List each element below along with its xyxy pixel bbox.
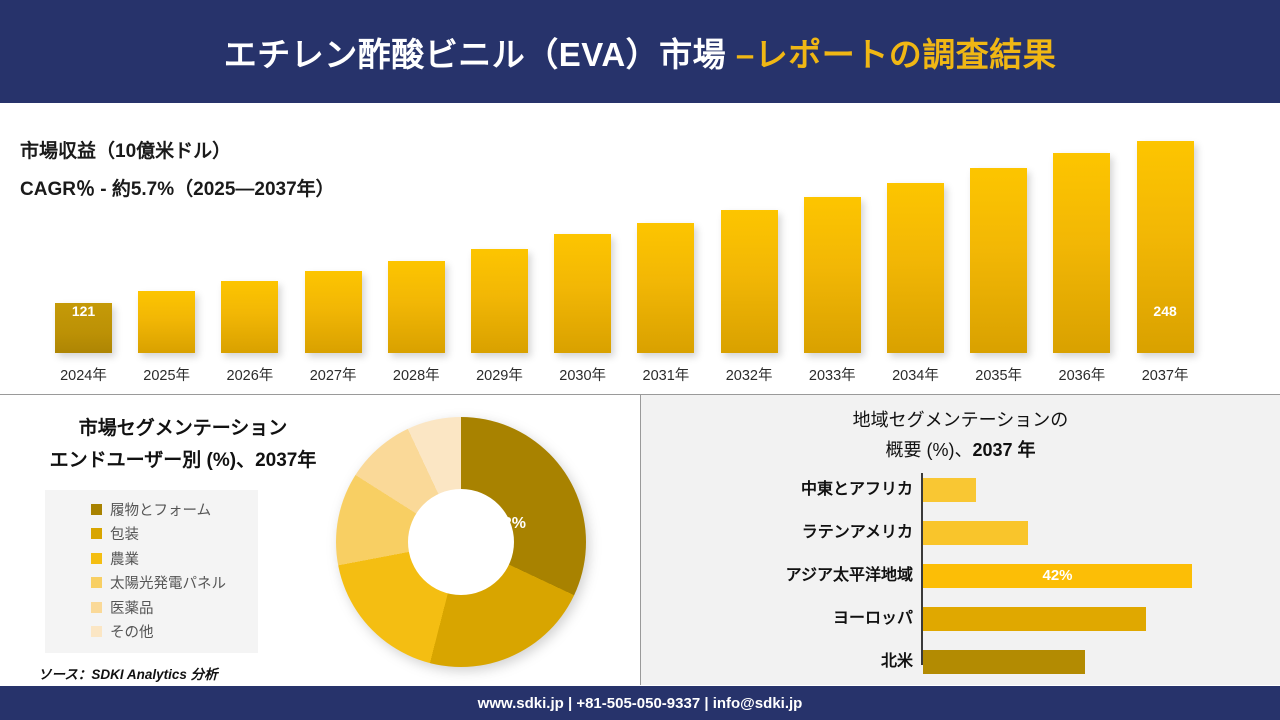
legend-swatch-icon	[91, 602, 102, 613]
segmentation-title-line1: 市場セグメンテーション	[18, 413, 348, 445]
donut-value-label: 32%	[494, 515, 526, 533]
region-label: アジア太平洋地域	[713, 564, 913, 588]
bar-column: 2027年	[305, 271, 362, 353]
footer-bar: www.sdki.jp | +81-505-050-9337 | info@sd…	[0, 686, 1280, 720]
region-row: 北米	[641, 650, 1280, 674]
region-bar	[923, 521, 1028, 545]
bar-category-label: 2030年	[548, 364, 617, 385]
bar-category-label: 2035年	[964, 364, 1033, 385]
bar-category-label: 2024年	[49, 364, 118, 385]
legend-swatch-icon	[91, 504, 102, 515]
segmentation-title: 市場セグメンテーション エンドユーザー別 (%)、2037年	[18, 413, 348, 477]
region-bar	[923, 650, 1085, 674]
footer-contact: www.sdki.jp | +81-505-050-9337 | info@sd…	[478, 695, 803, 712]
revenue-bar	[138, 291, 195, 353]
bar-column: 2034年	[887, 183, 944, 353]
bar-category-label: 2028年	[382, 364, 451, 385]
revenue-bar	[221, 281, 278, 353]
bar-column: 2032年	[721, 210, 778, 353]
header-bar: エチレン酢酸ビニル（EVA）市場 –レポートの調査結果	[0, 0, 1280, 103]
bar-column: 2035年	[970, 168, 1027, 353]
region-title-line1: 地域セグメンテーションの	[641, 405, 1280, 435]
legend-swatch-icon	[91, 553, 102, 564]
page-title: エチレン酢酸ビニル（EVA）市場 –レポートの調査結果	[224, 28, 1056, 76]
bar-column: 2029年	[471, 249, 528, 353]
bar-category-label: 2025年	[132, 364, 201, 385]
region-bar: 42%	[923, 564, 1192, 588]
legend-label: 包装	[110, 523, 139, 544]
bar-category-label: 2034年	[881, 364, 950, 385]
donut-legend: 履物とフォーム包装農業太陽光発電パネル医薬品その他	[45, 490, 258, 653]
legend-swatch-icon	[91, 626, 102, 637]
legend-label: 太陽光発電パネル	[110, 572, 226, 593]
bar-column: 2028年	[388, 261, 445, 353]
region-row: アジア太平洋地域42%	[641, 564, 1280, 588]
bar-category-label: 2037年	[1131, 364, 1200, 385]
region-title-line2: 概要 (%)、2037 年	[641, 435, 1280, 465]
legend-swatch-icon	[91, 528, 102, 539]
segmentation-title-line2: エンドユーザー別 (%)、2037年	[18, 445, 348, 477]
bar-category-label: 2036年	[1047, 364, 1116, 385]
page-title-main: エチレン酢酸ビニル（EVA）市場	[224, 36, 736, 73]
donut-hole	[408, 489, 514, 595]
legend-label: その他	[110, 621, 154, 642]
region-bar	[923, 607, 1146, 631]
legend-item: 太陽光発電パネル	[53, 571, 250, 596]
revenue-bar	[721, 210, 778, 353]
revenue-bar	[970, 168, 1027, 353]
page-title-accent: –レポートの調査結果	[736, 36, 1056, 73]
bar-value-label: 248	[1137, 303, 1194, 319]
bar-column: 2025年	[138, 291, 195, 353]
region-row: 中東とアフリカ	[641, 478, 1280, 502]
region-panel: 地域セグメンテーションの 概要 (%)、2037 年 中東とアフリカラテンアメリ…	[641, 395, 1280, 685]
legend-label: 医薬品	[110, 597, 154, 618]
bar-category-label: 2032年	[715, 364, 784, 385]
legend-item: 農業	[53, 546, 250, 571]
legend-item: 医薬品	[53, 595, 250, 620]
region-title-line2-a: 概要 (%)、	[885, 440, 972, 460]
revenue-bar	[804, 197, 861, 353]
region-label: 北米	[713, 650, 913, 674]
revenue-bar	[887, 183, 944, 353]
region-title: 地域セグメンテーションの 概要 (%)、2037 年	[641, 405, 1280, 465]
region-value-label: 42%	[923, 564, 1192, 588]
revenue-bar: 248	[1137, 141, 1194, 353]
bar-category-label: 2029年	[465, 364, 534, 385]
bar-category-label: 2033年	[798, 364, 867, 385]
revenue-bar	[471, 249, 528, 353]
bar-category-label: 2027年	[299, 364, 368, 385]
legend-label: 履物とフォーム	[110, 499, 211, 520]
bar-category-label: 2026年	[215, 364, 284, 385]
revenue-bar	[637, 223, 694, 353]
region-label: 中東とアフリカ	[713, 478, 913, 502]
legend-label: 農業	[110, 548, 139, 569]
region-label: ヨーロッパ	[713, 607, 913, 631]
legend-item: 包装	[53, 522, 250, 547]
bar-column: 2033年	[804, 197, 861, 353]
revenue-bar: 121	[55, 303, 112, 353]
region-title-year: 2037 年	[972, 440, 1035, 460]
segmentation-panel: 市場セグメンテーション エンドユーザー別 (%)、2037年 履物とフォーム包装…	[0, 395, 640, 685]
bar-column: 2030年	[554, 234, 611, 353]
bar-column: 2036年	[1053, 153, 1110, 353]
region-row: ヨーロッパ	[641, 607, 1280, 631]
bar-column: 2031年	[637, 223, 694, 353]
region-row: ラテンアメリカ	[641, 521, 1280, 545]
infographic-page: エチレン酢酸ビニル（EVA）市場 –レポートの調査結果 市場収益（10億米ドル）…	[0, 0, 1280, 720]
revenue-bars: 1212024年2025年2026年2027年2028年2029年2030年20…	[55, 103, 1230, 395]
revenue-bar	[554, 234, 611, 353]
revenue-bar	[1053, 153, 1110, 353]
source-note: ソース：SDKI Analytics 分析	[38, 663, 218, 683]
legend-item: 履物とフォーム	[53, 497, 250, 522]
region-bar	[923, 478, 976, 502]
legend-item: その他	[53, 620, 250, 645]
bar-value-label: 121	[55, 303, 112, 319]
bar-column: 2482037年	[1137, 141, 1194, 353]
revenue-chart-block: 市場収益（10億米ドル） CAGR％ - 約5.7%（2025―2037年） 1…	[0, 103, 1280, 395]
region-label: ラテンアメリカ	[713, 521, 913, 545]
revenue-bar	[388, 261, 445, 353]
legend-swatch-icon	[91, 577, 102, 588]
bar-category-label: 2031年	[631, 364, 700, 385]
donut-chart: 32%	[336, 417, 596, 677]
revenue-bar	[305, 271, 362, 353]
bar-column: 1212024年	[55, 303, 112, 353]
bar-column: 2026年	[221, 281, 278, 353]
